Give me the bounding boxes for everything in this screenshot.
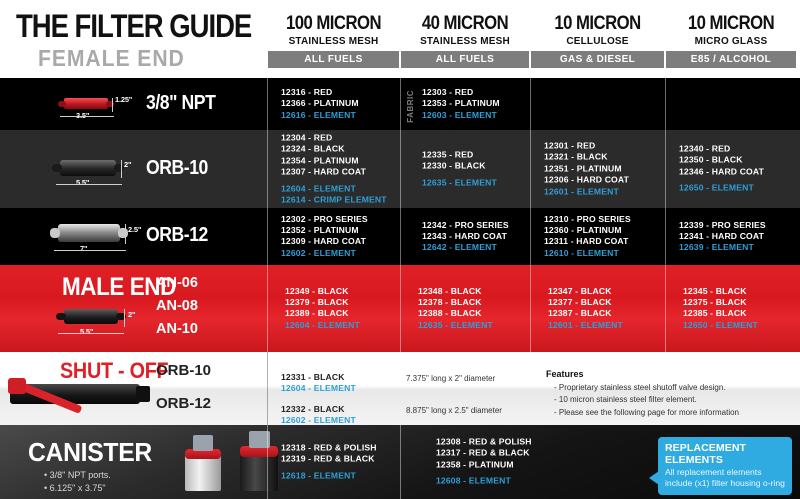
part-number: 12343 - HARD COAT xyxy=(422,231,530,242)
cell-canister-right-codes: 12308 - RED & POLISH12317 - RED & BLACK1… xyxy=(400,425,665,499)
column-header-100-micron: 100 MICRON STAINLESS MESH ALL FUELS xyxy=(268,14,399,68)
part-number: 12342 - PRO SERIES xyxy=(422,219,530,230)
part-number: 12616 - ELEMENT xyxy=(281,110,400,121)
male-size-an08: AN-08 xyxy=(156,298,198,314)
cell-orb12-100: 12302 - PRO SERIES12352 - PLATINUM12309 … xyxy=(267,208,400,265)
part-number: 12608 - ELEMENT xyxy=(436,476,665,487)
shutoff-row-label-orb10: ORB-10 xyxy=(156,362,211,379)
part-number: 12602 - ELEMENT xyxy=(281,248,400,259)
filter-guide-sheet: THE FILTER GUIDE FEMALE END 100 MICRON S… xyxy=(0,0,800,499)
canister-title: CANISTER xyxy=(28,437,152,468)
male-size-an10: AN-10 xyxy=(156,321,198,337)
row-orb10: ORB-10 2" 5.5" 12304 - RED12324 - BLACK1… xyxy=(0,130,800,208)
part-number: 12340 - RED xyxy=(679,144,800,155)
part-number: 12610 - ELEMENT xyxy=(544,248,665,259)
part-number: 12351 - PLATINUM xyxy=(544,163,665,174)
code-list: 12308 - RED & POLISH12317 - RED & BLACK1… xyxy=(400,437,665,488)
part-number: 12650 - ELEMENT xyxy=(679,183,800,194)
feature-item: - Please see the following page for more… xyxy=(554,407,739,420)
cell-canister-left-codes: 12318 - RED & POLISH12319 - RED & BLACK1… xyxy=(267,425,400,499)
part-number: 12385 - BLACK xyxy=(683,309,800,320)
code-list: 12331 - BLACK12604 - ELEMENT xyxy=(267,372,400,395)
shutoff-dim-orb12: 8.875" long x 2.5" diameter xyxy=(406,406,502,415)
replacement-body: All replacement elements include (x1) fi… xyxy=(658,467,792,495)
row-label: ORB-12 xyxy=(146,224,208,247)
part-number: 12642 - ELEMENT xyxy=(422,242,530,253)
column-header-40-micron: 40 MICRON STAINLESS MESH ALL FUELS xyxy=(401,14,529,68)
row-label: 3/8" NPT xyxy=(146,92,215,115)
replacement-title: REPLACEMENT ELEMENTS xyxy=(658,437,792,467)
dimension-length: 5.5" xyxy=(80,327,93,336)
cell-npt-10cell xyxy=(530,78,665,130)
shutoff-row-label-orb12: ORB-12 xyxy=(156,395,211,412)
part-number: 12302 - PRO SERIES xyxy=(281,214,400,225)
cell-orb10-10cell: 12301 - RED12321 - BLACK12351 - PLATINUM… xyxy=(530,130,665,208)
part-number: 12307 - HARD COAT xyxy=(281,167,400,178)
features-title: Features xyxy=(546,369,584,379)
code-list: 12340 - RED12350 - BLACK12346 - HARD COA… xyxy=(665,144,800,195)
column-material: MICRO GLASS xyxy=(666,36,796,47)
column-micron: 100 MICRON xyxy=(276,14,391,33)
part-number: 12366 - PLATINUM xyxy=(281,98,400,109)
female-end-subtitle: FEMALE END xyxy=(38,45,185,72)
part-number: 12353 - PLATINUM xyxy=(422,98,530,109)
row-npt: 3/8" NPT 1.25" 3.5" FABRIC 12316 - RED12… xyxy=(0,78,800,130)
part-number: 12349 - BLACK xyxy=(285,286,400,297)
part-number: 12350 - BLACK xyxy=(679,155,800,166)
code-list: 12349 - BLACK12379 - BLACK12389 - BLACK1… xyxy=(267,286,400,332)
code-list: 12303 - RED12353 - PLATINUM12603 - ELEME… xyxy=(400,87,530,121)
cell-orb12-10cell: 12310 - PRO SERIES12360 - PLATINUM12311 … xyxy=(530,208,665,265)
part-number: 12604 - ELEMENT xyxy=(281,383,400,394)
dimension-diameter: 2.5" xyxy=(128,225,141,234)
part-number: 12319 - RED & BLACK xyxy=(281,454,400,465)
part-number: 12360 - PLATINUM xyxy=(544,225,665,236)
column-material: STAINLESS MESH xyxy=(268,36,399,47)
shutoff-dim-orb10: 7.375" long x 2" diameter xyxy=(406,374,495,383)
code-list: 12301 - RED12321 - BLACK12351 - PLATINUM… xyxy=(530,140,665,197)
male-size-an06: AN-06 xyxy=(156,275,198,291)
code-list: 12342 - PRO SERIES12343 - HARD COAT12642… xyxy=(400,219,530,253)
part-number: 12330 - BLACK xyxy=(422,161,530,172)
part-number: 12602 - ELEMENT xyxy=(281,415,400,425)
canister-bullet-ports: • 3/8" NPT ports. xyxy=(44,469,111,482)
part-number: 12310 - PRO SERIES xyxy=(544,214,665,225)
cell-orb10-10glass: 12340 - RED12350 - BLACK12346 - HARD COA… xyxy=(665,130,800,208)
part-number: 12650 - ELEMENT xyxy=(683,320,800,331)
part-number: 12635 - ELEMENT xyxy=(418,320,530,331)
part-number: 12379 - BLACK xyxy=(285,297,400,308)
part-number: 12378 - BLACK xyxy=(418,297,530,308)
row-orb12: ORB-12 2.5" 7" 12302 - PRO SERIES12352 -… xyxy=(0,208,800,265)
part-number: 12331 - BLACK xyxy=(281,372,400,383)
column-material: CELLULOSE xyxy=(531,36,664,47)
part-number: 12354 - PLATINUM xyxy=(281,155,400,166)
part-number: 12303 - RED xyxy=(422,87,530,98)
part-number: 12335 - RED xyxy=(422,149,530,160)
part-number: 12389 - BLACK xyxy=(285,309,400,320)
code-list: 12339 - PRO SERIES12341 - HARD COAT12639… xyxy=(665,219,800,253)
page-title: THE FILTER GUIDE xyxy=(16,8,251,45)
header: THE FILTER GUIDE FEMALE END 100 MICRON S… xyxy=(0,0,800,78)
feature-item: - 10 micron stainless steel filter eleme… xyxy=(554,394,739,407)
part-number: 12358 - PLATINUM xyxy=(436,460,665,471)
part-number: 12601 - ELEMENT xyxy=(548,320,665,331)
part-number: 12348 - BLACK xyxy=(418,286,530,297)
cell-orb12-10glass: 12339 - PRO SERIES12341 - HARD COAT12639… xyxy=(665,208,800,265)
column-micron: 10 MICRON xyxy=(674,14,788,33)
part-number: 12601 - ELEMENT xyxy=(544,186,665,197)
column-fuel-badge: GAS & DIESEL xyxy=(531,51,664,68)
column-header-10-micron-micro-glass: 10 MICRON MICRO GLASS E85 / ALCOHOL xyxy=(666,14,796,68)
part-number: 12321 - BLACK xyxy=(544,152,665,163)
part-number: 12345 - BLACK xyxy=(683,286,800,297)
section-male-end: MALE END 2" 5.5" AN-06 AN-08 AN-10 12349… xyxy=(0,265,800,352)
cell-shutoff-codes-orb10: 12331 - BLACK12604 - ELEMENT 12332 - BLA… xyxy=(267,352,400,425)
part-number: 12387 - BLACK xyxy=(548,309,665,320)
code-list: 12302 - PRO SERIES12352 - PLATINUM12309 … xyxy=(267,214,400,260)
dimension-length: 5.5" xyxy=(76,178,89,187)
part-number: 12308 - RED & POLISH xyxy=(436,437,665,448)
part-number: 12316 - RED xyxy=(281,87,400,98)
code-list: 12332 - BLACK12602 - ELEMENT xyxy=(267,404,400,425)
part-number: 12604 - ELEMENT xyxy=(281,183,400,194)
dimension-length: 7" xyxy=(80,244,87,253)
cell-orb10-100: 12304 - RED12324 - BLACK12354 - PLATINUM… xyxy=(267,130,400,208)
code-list: 12335 - RED12330 - BLACK12635 - ELEMENT xyxy=(400,149,530,188)
part-number: 12341 - HARD COAT xyxy=(679,231,800,242)
part-number: 12639 - ELEMENT xyxy=(679,242,800,253)
canister-bullet-size: • 6.125" x 3.75" xyxy=(44,482,106,495)
cell-male-100: 12349 - BLACK12379 - BLACK12389 - BLACK1… xyxy=(267,265,400,352)
replacement-elements-callout: REPLACEMENT ELEMENTS All replacement ele… xyxy=(658,437,792,495)
cell-orb12-40: 12342 - PRO SERIES12343 - HARD COAT12642… xyxy=(400,208,530,265)
row-label: ORB-10 xyxy=(146,157,208,180)
part-number: 12306 - HARD COAT xyxy=(544,175,665,186)
part-number: 12309 - HARD COAT xyxy=(281,237,400,248)
code-list: 12304 - RED12324 - BLACK12354 - PLATINUM… xyxy=(267,132,400,205)
part-number: 12618 - ELEMENT xyxy=(281,470,400,481)
part-number: 12332 - BLACK xyxy=(281,404,400,415)
part-number: 12388 - BLACK xyxy=(418,309,530,320)
column-micron: 40 MICRON xyxy=(409,14,522,33)
column-fuel-badge: ALL FUELS xyxy=(268,51,399,68)
section-canister: CANISTER • 3/8" NPT ports. • 6.125" x 3.… xyxy=(0,425,800,499)
code-list: 12310 - PRO SERIES12360 - PLATINUM12311 … xyxy=(530,214,665,260)
cell-npt-40: 12303 - RED12353 - PLATINUM12603 - ELEME… xyxy=(400,78,530,130)
part-number: 12635 - ELEMENT xyxy=(422,177,530,188)
part-number: 12339 - PRO SERIES xyxy=(679,219,800,230)
dimension-diameter: 2" xyxy=(128,310,135,319)
part-number: 12304 - RED xyxy=(281,132,400,143)
cell-npt-100: 12316 - RED12366 - PLATINUM12616 - ELEME… xyxy=(267,78,400,130)
part-number: 12604 - ELEMENT xyxy=(285,320,400,331)
part-number: 12324 - BLACK xyxy=(281,144,400,155)
part-number: 12614 - CRIMP ELEMENT xyxy=(281,194,400,205)
column-material: STAINLESS MESH xyxy=(401,36,529,47)
code-list: 12347 - BLACK12377 - BLACK12387 - BLACK1… xyxy=(530,286,665,332)
code-list: 12345 - BLACK12375 - BLACK12385 - BLACK1… xyxy=(665,286,800,332)
column-fuel-badge: ALL FUELS xyxy=(401,51,529,68)
cell-orb10-40: 12335 - RED12330 - BLACK12635 - ELEMENT xyxy=(400,130,530,208)
part-number: 12346 - HARD COAT xyxy=(679,167,800,178)
part-number: 12603 - ELEMENT xyxy=(422,110,530,121)
part-number: 12352 - PLATINUM xyxy=(281,225,400,236)
part-number: 12377 - BLACK xyxy=(548,297,665,308)
code-list: 12318 - RED & POLISH12319 - RED & BLACK1… xyxy=(267,442,400,481)
feature-item: - Proprietary stainless steel shutoff va… xyxy=(554,382,739,395)
code-list: 12316 - RED12366 - PLATINUM12616 - ELEME… xyxy=(267,87,400,121)
part-number: 12347 - BLACK xyxy=(548,286,665,297)
dimension-diameter: 2" xyxy=(124,160,131,169)
part-number: 12301 - RED xyxy=(544,140,665,151)
cell-male-40: 12348 - BLACK12378 - BLACK12388 - BLACK1… xyxy=(400,265,530,352)
part-number: 12318 - RED & POLISH xyxy=(281,442,400,453)
dimension-diameter: 1.25" xyxy=(115,95,132,104)
part-number: 12375 - BLACK xyxy=(683,297,800,308)
features-block: Features - Proprietary stainless steel s… xyxy=(546,368,739,419)
part-number: 12317 - RED & BLACK xyxy=(436,448,665,459)
code-list: 12348 - BLACK12378 - BLACK12388 - BLACK1… xyxy=(400,286,530,332)
cell-male-10cell: 12347 - BLACK12377 - BLACK12387 - BLACK1… xyxy=(530,265,665,352)
column-micron: 10 MICRON xyxy=(539,14,656,33)
part-number: 12311 - HARD COAT xyxy=(544,237,665,248)
section-shutoff: SHUT - OFF ORB-10 ORB-12 12331 - BLACK12… xyxy=(0,352,800,425)
cell-male-10glass: 12345 - BLACK12375 - BLACK12385 - BLACK1… xyxy=(665,265,800,352)
cell-npt-10glass xyxy=(665,78,800,130)
shutoff-title: SHUT - OFF xyxy=(60,358,168,384)
column-header-10-micron-cellulose: 10 MICRON CELLULOSE GAS & DIESEL xyxy=(531,14,664,68)
column-fuel-badge: E85 / ALCOHOL xyxy=(666,51,796,68)
